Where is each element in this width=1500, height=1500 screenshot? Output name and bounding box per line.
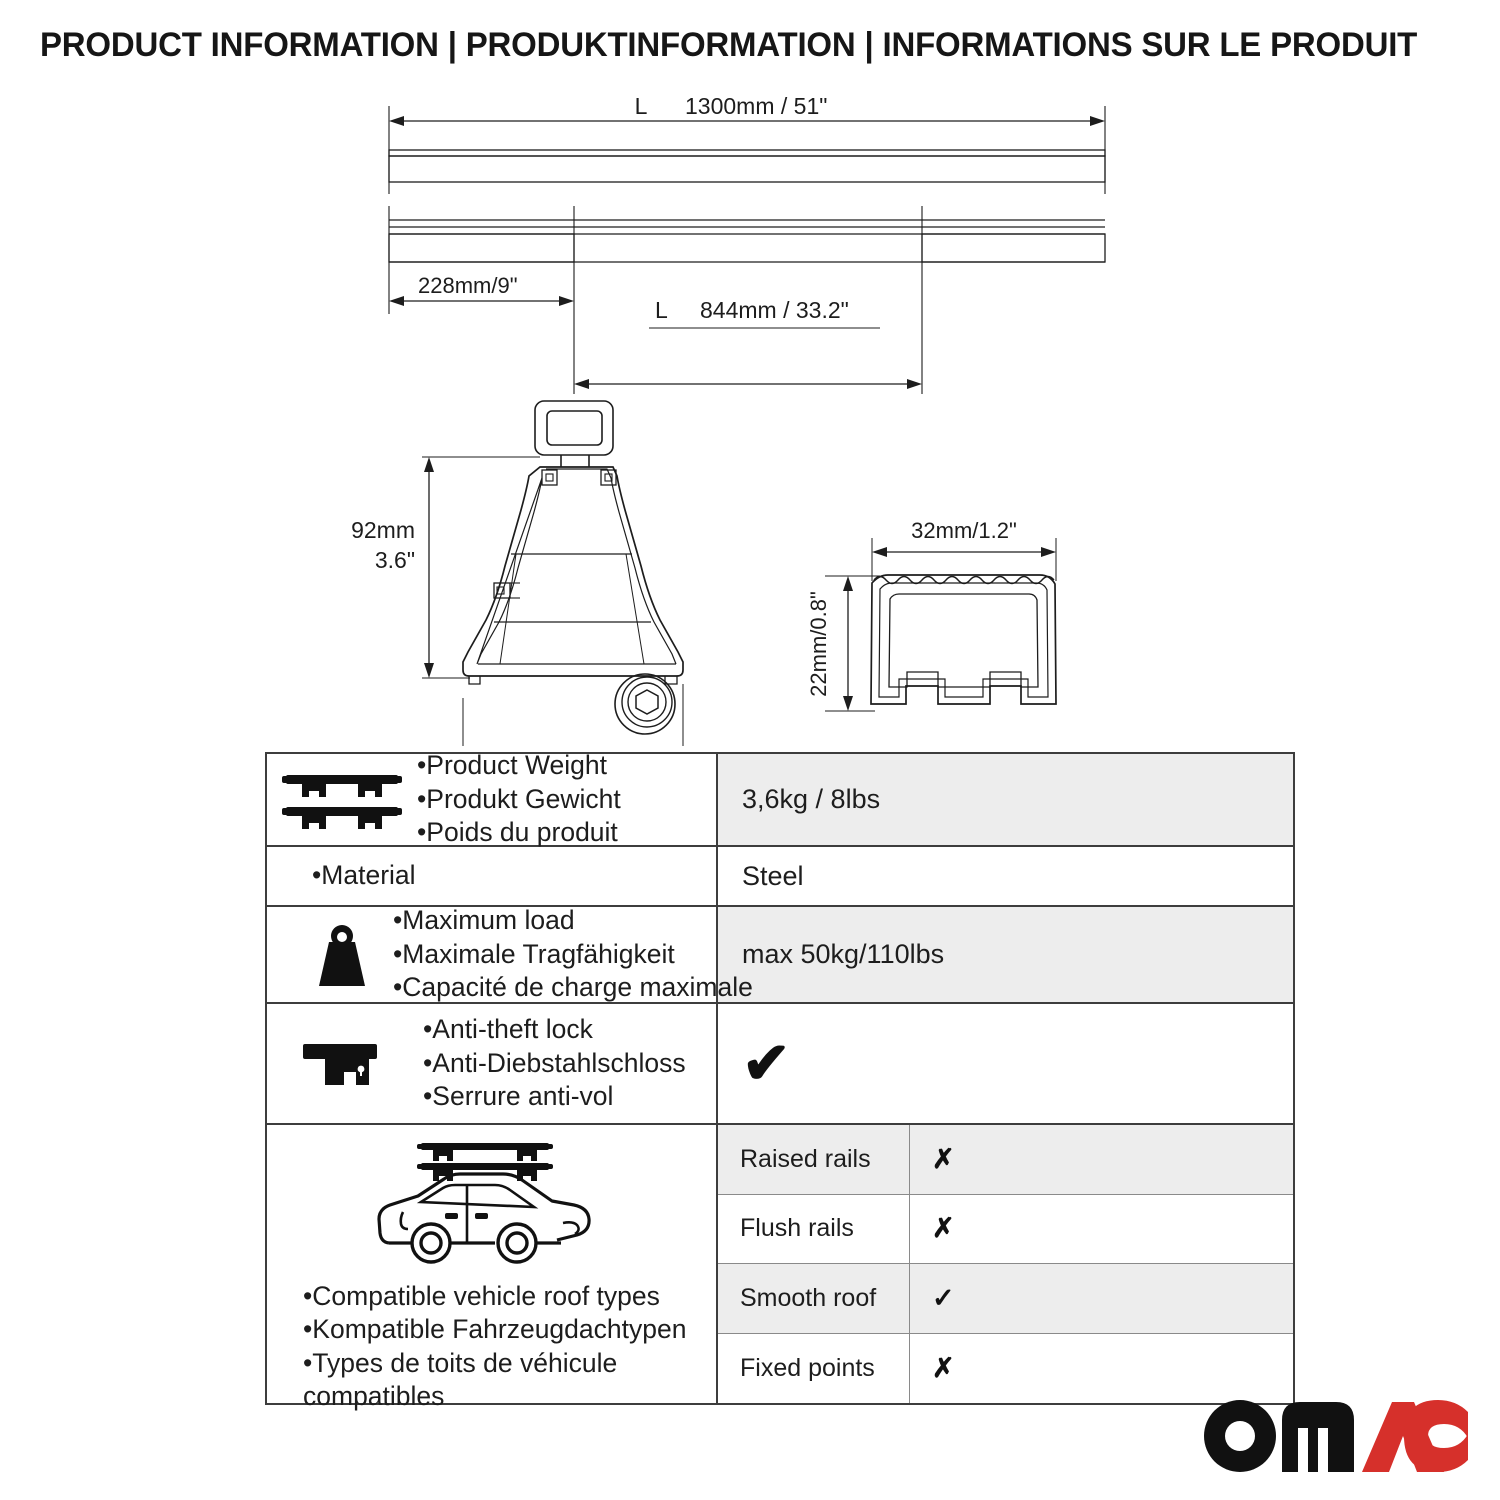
row-labels: •Material [312,859,416,892]
row-labels: •Product Weight •Produkt Gewicht •Poids … [417,749,621,849]
drawing-svg: L 1300mm / 51" 228mm/9" L 844mm / 33.2" … [0,86,1500,746]
label-line: •Compatible vehicle roof types [303,1280,716,1313]
table-row-material: •Material Steel [267,847,1293,907]
bar-length-prefix: L [635,93,648,119]
page-header: PRODUCT INFORMATION | PRODUKTINFORMATION… [0,0,1500,86]
omac-logo [1202,1392,1470,1478]
row-label-cell: •Maximum load •Maximale Tragfähigkeit •C… [267,907,718,1002]
span-value: 844mm / 33.2" [700,297,849,323]
profile-height-value: 22mm/0.8" [806,591,831,697]
foot-height-line1: 92mm [351,517,415,543]
label-line: •Anti-theft lock [423,1013,686,1046]
roof-types-labels: •Compatible vehicle roof types •Kompatib… [267,1280,716,1414]
table-row-product-weight: •Product Weight •Produkt Gewicht •Poids … [267,754,1293,847]
row-label-cell: •Product Weight •Produkt Gewicht •Poids … [267,754,718,845]
label-line: •Kompatible Fahrzeugdachtypen [303,1313,716,1346]
roof-type-name: Smooth roof [718,1264,910,1333]
label-line: •Produkt Gewicht [417,783,621,816]
foot-offset-value: 228mm/9" [418,273,518,298]
cross-icon: ✗ [910,1334,955,1403]
row-label-cell: •Material [267,847,718,905]
technical-drawing: L 1300mm / 51" 228mm/9" L 844mm / 33.2" … [0,86,1500,746]
anti-theft-lock-value: ✔ [718,1004,1293,1123]
row-labels: •Anti-theft lock •Anti-Diebstahlschloss … [423,1013,686,1113]
row-labels: •Maximum load •Maximale Tragfähigkeit •C… [393,904,753,1004]
label-line: •Capacité de charge maximale [393,971,753,1004]
car-with-roof-bars-icon [367,1139,617,1272]
specification-table: •Product Weight •Produkt Gewicht •Poids … [265,752,1295,1405]
label-line: •Material [312,859,416,892]
table-row-roof-types: •Compatible vehicle roof types •Kompatib… [267,1125,1293,1403]
roof-type-smooth-roof: Smooth roof ✓ [718,1264,1293,1334]
label-line: •Maximum load [393,904,753,937]
roof-type-name: Flush rails [718,1195,910,1264]
label-line: •Types de toits de véhicule [303,1347,716,1380]
table-row-maximum-load: •Maximum load •Maximale Tragfähigkeit •C… [267,907,1293,1004]
cross-icon: ✗ [910,1125,955,1194]
foot-height-line2: 3.6" [375,547,415,573]
row-label-cell: •Anti-theft lock •Anti-Diebstahlschloss … [267,1004,718,1123]
table-row-anti-theft-lock: •Anti-theft lock •Anti-Diebstahlschloss … [267,1004,1293,1125]
label-line: •Poids du produit [417,816,621,849]
maximum-load-value: max 50kg/110lbs [718,907,1293,1002]
label-line: compatibles [303,1380,716,1413]
label-line: •Anti-Diebstahlschloss [423,1047,686,1080]
check-icon: ✔ [742,1035,791,1093]
roof-types-list: Raised rails ✗ Flush rails ✗ Smooth roof… [718,1125,1293,1403]
roof-type-raised-rails: Raised rails ✗ [718,1125,1293,1195]
profile-width-value: 32mm/1.2" [911,518,1017,543]
roof-type-name: Raised rails [718,1125,910,1194]
check-icon: ✓ [910,1264,955,1333]
foot-width-value: 104mm / 4" [515,743,632,746]
roof-type-flush-rails: Flush rails ✗ [718,1195,1293,1265]
bar-length-value: 1300mm / 51" [685,93,827,119]
roof-bars-icon [267,769,417,831]
label-line: •Product Weight [417,749,621,782]
roof-types-label-cell: •Compatible vehicle roof types •Kompatib… [267,1125,718,1403]
label-line: •Maximale Tragfähigkeit [393,938,753,971]
material-value: Steel [718,847,1293,905]
lock-icon [267,1036,417,1092]
span-prefix: L [655,297,668,323]
product-weight-value: 3,6kg / 8lbs [718,754,1293,845]
omac-logo-mark [1202,1392,1470,1478]
label-line: •Serrure anti-vol [423,1080,686,1113]
roof-type-name: Fixed points [718,1334,910,1403]
page-title: PRODUCT INFORMATION | PRODUKTINFORMATION… [40,26,1417,65]
cross-icon: ✗ [910,1195,955,1264]
